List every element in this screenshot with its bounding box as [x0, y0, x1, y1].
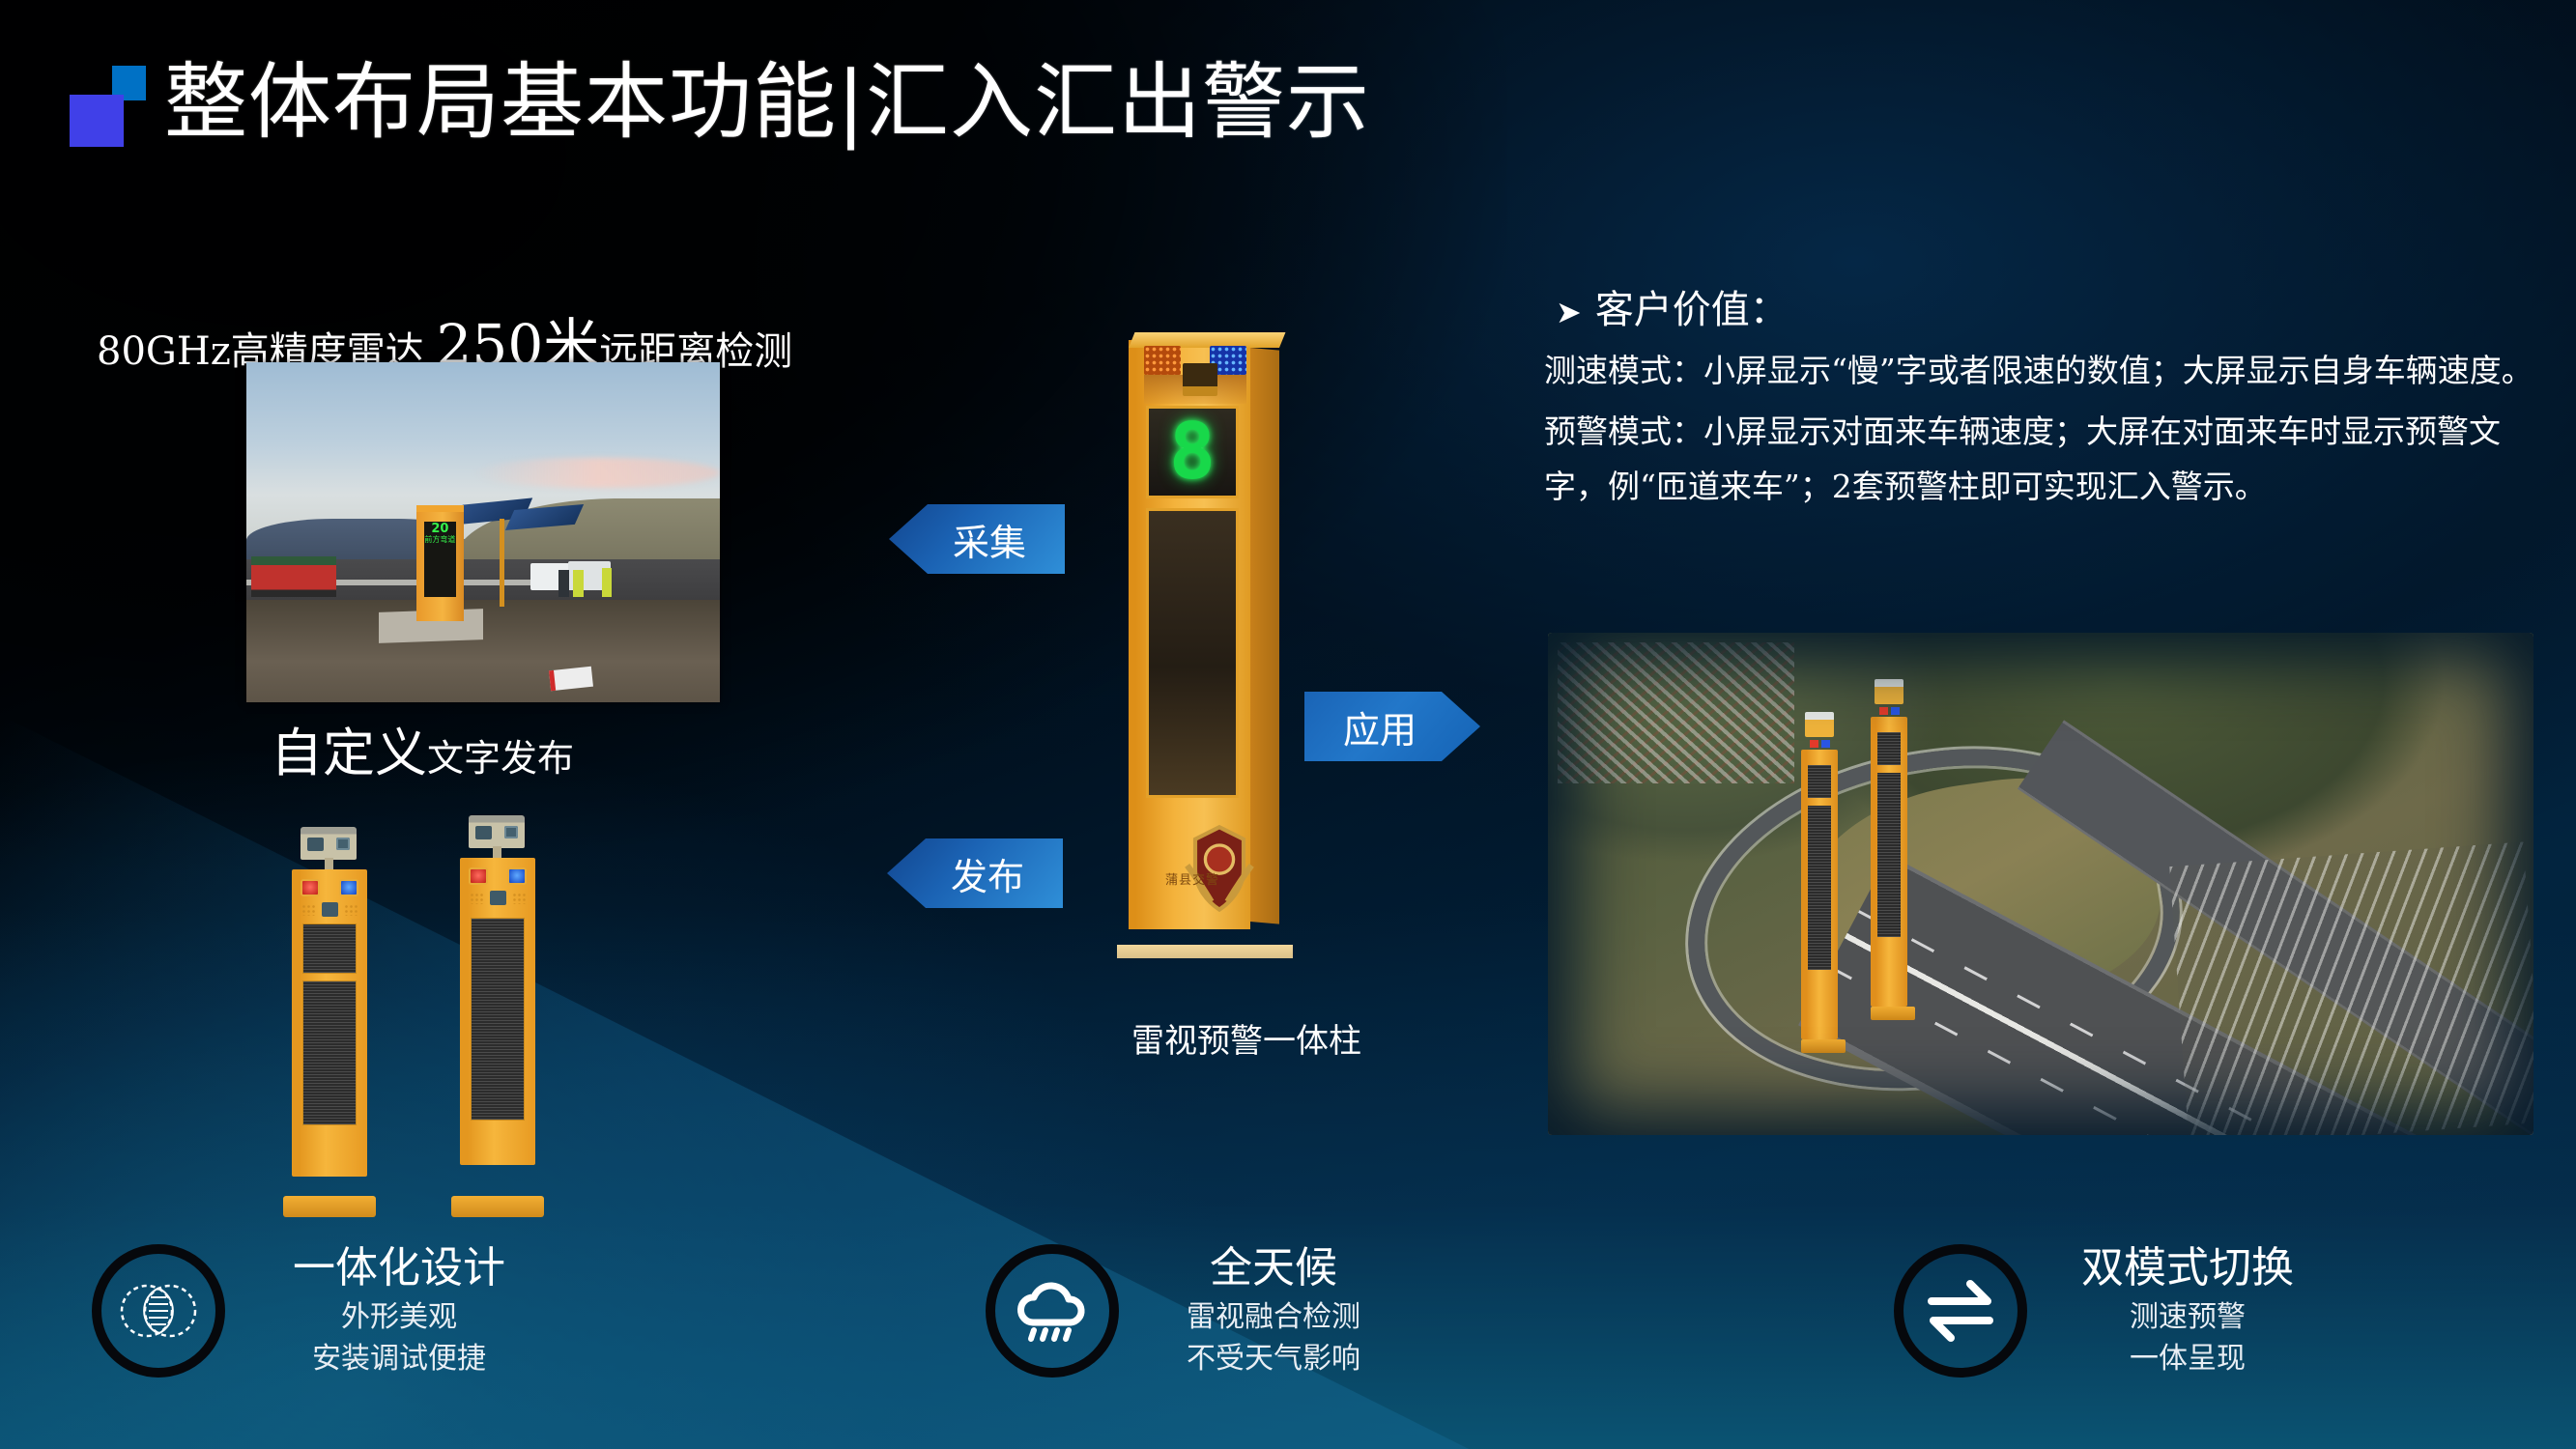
pole-red-lamp: [469, 867, 488, 885]
feature-title: 全天候: [1187, 1244, 1360, 1293]
pole-vent-left: [470, 893, 483, 904]
feature-title: 双模式切换: [2081, 1244, 2294, 1293]
pole-vent-right: [344, 904, 358, 916]
center-pole-orange-lamp: [1144, 346, 1181, 375]
slide-title-row: 整体布局基本功能|汇入汇出警示: [70, 44, 1370, 160]
warning-pole-render-right: [460, 858, 535, 1217]
roadside-installation-photo: 20 前方弯道: [246, 362, 720, 702]
customer-value-heading: ➤客户价值：: [1556, 278, 1789, 334]
photo-ground: [246, 600, 720, 702]
pole-blue-lamp: [339, 879, 358, 896]
center-pole-camera-icon: [1183, 363, 1217, 396]
feature-line-1: 外形美观: [293, 1299, 505, 1336]
feature-icon-circle: [1894, 1244, 2027, 1378]
feature-text: 全天候 雷视融合检测 不受天气影响: [1187, 1244, 1360, 1378]
photo-cloud: [473, 458, 720, 489]
center-pole-speed-display: 8: [1146, 406, 1239, 498]
cloud-rain-icon: [1004, 1263, 1101, 1359]
center-pole-speed-value: 8: [1169, 413, 1216, 491]
slide-canvas: 整体布局基本功能|汇入汇出警示 80GHz高精度雷达 250米远距离检测 20 …: [0, 0, 2576, 1449]
chevron-publish-label: 发布: [951, 847, 1024, 900]
feature-icon-circle: [92, 1244, 225, 1378]
pole-vent-right: [512, 893, 526, 904]
feature-all-weather: 全天候 雷视融合检测 不受天气影响: [986, 1244, 1360, 1378]
pole-base: [451, 1196, 544, 1217]
feature-icon-circle: [986, 1244, 1119, 1378]
chevron-collect-label: 采集: [953, 513, 1026, 566]
center-warning-pole: 8 蒲县交警: [1102, 319, 1314, 985]
feature-title: 一体化设计: [293, 1244, 505, 1293]
feature-line-2: 一体呈现: [2081, 1341, 2294, 1378]
feature-text: 一体化设计 外形美观 安装调试便捷: [293, 1244, 505, 1378]
pole-small-screen: [302, 923, 357, 974]
page-title: 整体布局基本功能|汇入汇出警示: [164, 44, 1370, 160]
feature-line-1: 测速预警: [2081, 1299, 2294, 1336]
photo-worker-2: [573, 570, 584, 597]
left-subcaption-small: 文字发布: [427, 737, 574, 780]
customer-value-body: 测速模式：小屏显示“慢”字或者限速的数值；大屏显示自身车辆速度。 预警模式：小屏…: [1544, 344, 2539, 520]
pole-large-screen: [302, 980, 357, 1125]
left-subcaption-big: 自定义: [271, 723, 427, 783]
title-bullet-squares: [70, 66, 151, 147]
customer-value-paragraph-2: 预警模式：小屏显示对面来车辆速度；大屏在对面来车时显示预警文字，例“匝道来车”；…: [1544, 405, 2539, 515]
bullet-arrow-icon: ➤: [1556, 294, 1582, 330]
police-badge-icon: [1171, 821, 1214, 864]
pole-red-lamp: [301, 879, 320, 896]
photo-solar-post: [500, 519, 503, 608]
venn-overlap-icon: [110, 1263, 207, 1359]
photo-red-truck: [251, 556, 336, 597]
feature-text: 双模式切换 测速预警 一体呈现: [2081, 1244, 2294, 1378]
pole-camera-icon: [301, 827, 357, 860]
feature-line-2: 不受天气影响: [1187, 1341, 1360, 1378]
pole-body: [460, 858, 535, 1165]
center-pole-foot: [1117, 945, 1293, 958]
swap-arrows-icon: [1912, 1263, 2009, 1359]
feature-line-1: 雷视融合检测: [1187, 1299, 1360, 1336]
warning-pole-renders: [271, 811, 599, 1217]
feature-dual-mode: 双模式切换 测速预警 一体呈现: [1894, 1244, 2294, 1378]
photo-led-number: 20: [424, 523, 455, 535]
photo-worker-3: [602, 568, 613, 597]
highway-interchange-aerial-photo: [1548, 633, 2533, 1135]
pole-base: [283, 1196, 376, 1217]
feature-integrated-design: 一体化设计 外形美观 安装调试便捷: [92, 1244, 505, 1378]
photo-led-display: 20 前方弯道: [424, 522, 455, 596]
center-pole-caption: 雷视预警一体柱: [1024, 1014, 1469, 1062]
pole-body: [292, 869, 367, 1177]
photo-led-text: 前方弯道: [424, 536, 455, 544]
police-badge-text: 蒲县交警: [1152, 869, 1233, 888]
pole-radar-sensor: [322, 902, 338, 917]
customer-value-paragraph-1: 测速模式：小屏显示“慢”字或者限速的数值；大屏显示自身车辆速度。: [1544, 344, 2539, 399]
warning-pole-render-left: [292, 869, 367, 1217]
pole-vent-left: [301, 904, 315, 916]
left-subcaption: 自定义文字发布: [271, 710, 574, 786]
bullet-square-large: [70, 95, 124, 147]
photo-worker-1: [558, 570, 569, 597]
photo-carton-box: [549, 667, 593, 692]
customer-value-heading-label: 客户价值：: [1595, 288, 1789, 332]
feature-line-2: 安装调试便捷: [293, 1341, 505, 1378]
pole-large-screen: [471, 918, 525, 1121]
pole-camera-icon: [469, 815, 525, 848]
aerial-vignette: [1548, 633, 2533, 1135]
center-pole-message-screen: [1146, 508, 1239, 798]
chevron-apply-label: 应用: [1343, 700, 1417, 753]
pole-blue-lamp: [507, 867, 527, 885]
pole-radar-sensor: [490, 891, 506, 905]
